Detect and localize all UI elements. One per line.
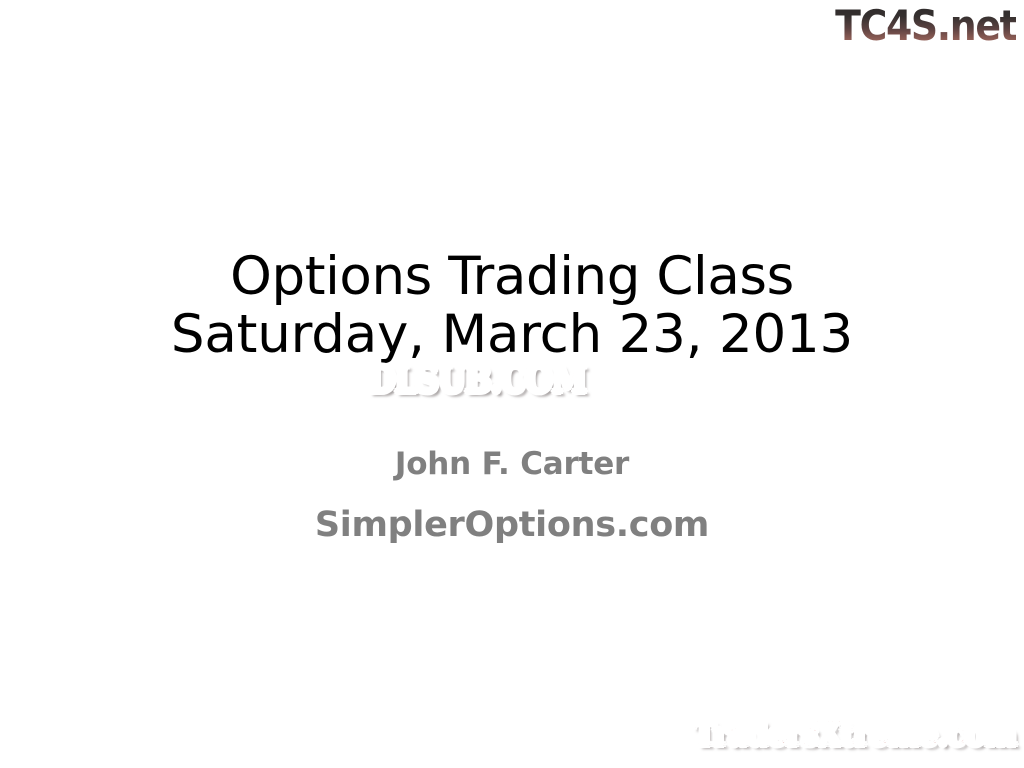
title-line-1: Options Trading Class [0, 248, 1024, 306]
tc4s-net-logo: TC4S.net [835, 4, 1016, 48]
dlsub-watermark-text: DLSUB.COM [368, 359, 586, 401]
title-line-2: Saturday, March 23, 2013 [0, 306, 1024, 364]
tradersxtreme-logo-text: TradersXtreme.com [693, 715, 1016, 753]
dlsub-watermark: DLSUB.COM [368, 360, 586, 400]
presenter-name: John F. Carter [0, 443, 1024, 485]
presentation-slide: TC4S.net Options Trading Class Saturday,… [0, 0, 1024, 768]
presenter-website: SimplerOptions.com [0, 501, 1024, 549]
tradersxtreme-logo: TradersXtreme.com [693, 716, 1016, 752]
slide-title: Options Trading Class Saturday, March 23… [0, 248, 1024, 364]
slide-subtitle: John F. Carter SimplerOptions.com [0, 443, 1024, 549]
